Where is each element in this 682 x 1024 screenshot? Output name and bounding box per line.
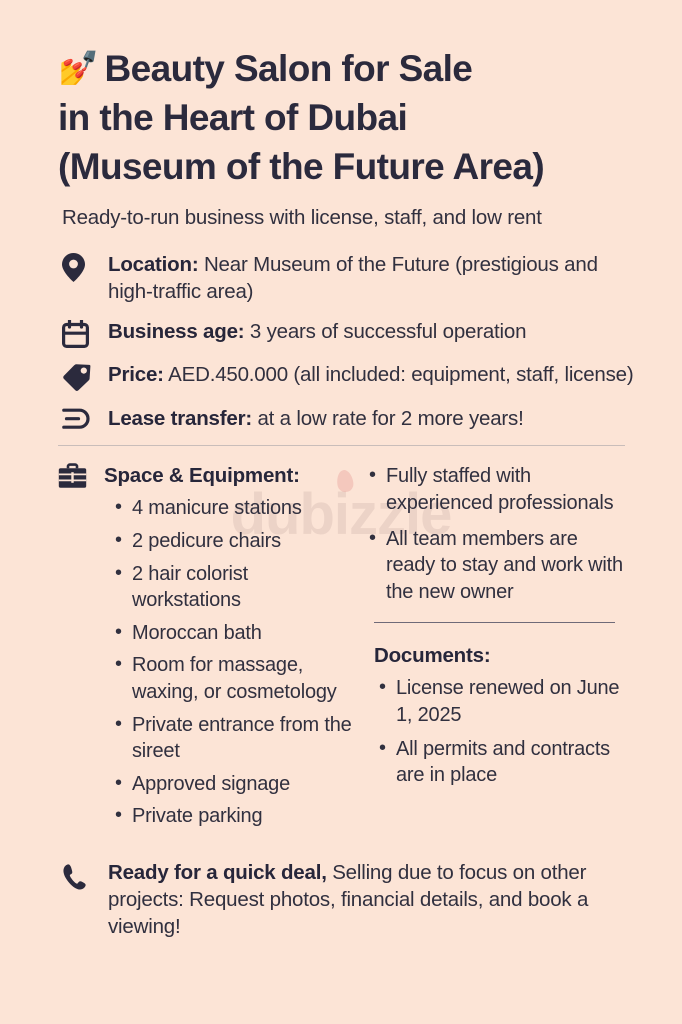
two-column-section: Space & Equipment: 4 manicure stations 2… — [0, 463, 682, 836]
info-row-lease-transfer: Lease transfer: at a low rate for 2 more… — [62, 405, 642, 432]
page-title: 💅Beauty Salon for Salein the Heart of Du… — [58, 44, 642, 192]
list-item: 4 manicure stations — [115, 495, 358, 522]
info-label-location: Location: — [108, 253, 198, 276]
info-row-location: Location: Near Museum of the Future (pre… — [62, 251, 642, 305]
documents-heading: Documents: — [374, 644, 625, 668]
title-line-2: in the Heart of Dubai — [58, 97, 407, 138]
map-pin-icon — [62, 251, 108, 282]
info-label-lease-transfer: Lease transfer: — [108, 407, 252, 430]
list-item: Private parking — [115, 803, 358, 830]
nail-polish-emoji: 💅 — [58, 49, 99, 86]
documents-list: License renewed on June 1, 2025 All perm… — [369, 675, 625, 788]
info-row-price: Price: AED.450.000 (all included: equipm… — [62, 361, 642, 392]
list-item: 2 hair colorist workstations — [115, 561, 358, 614]
info-value-business-age: 3 years of successful operation — [250, 320, 526, 343]
list-item: Moroccan bath — [115, 620, 358, 647]
briefcase-icon — [58, 463, 104, 489]
call-to-action: Ready for a quick deal, Selling due to f… — [0, 859, 682, 941]
title-line-1: Beauty Salon for Sale — [105, 48, 473, 89]
list-item: 2 pedicure chairs — [115, 528, 358, 555]
cta-bold-text: Ready for a quick deal, — [108, 861, 327, 884]
title-line-3: (Museum of the Future Area) — [58, 146, 544, 187]
list-item: License renewed on June 1, 2025 — [379, 675, 625, 728]
info-row-price-text: Price: AED.450.000 (all included: equipm… — [108, 361, 642, 388]
price-tag-icon — [62, 361, 108, 392]
header-block: 💅Beauty Salon for Salein the Heart of Du… — [0, 0, 682, 231]
list-item: All team members are ready to stay and w… — [369, 526, 625, 606]
column-space-equipment: Space & Equipment: 4 manicure stations 2… — [58, 463, 358, 836]
info-value-price: AED.450.000 (all included: equipment, st… — [168, 363, 633, 386]
info-label-price: Price: — [108, 363, 164, 386]
info-row-location-text: Location: Near Museum of the Future (pre… — [108, 251, 642, 305]
list-item: Approved signage — [115, 771, 358, 798]
phone-icon — [62, 859, 108, 891]
space-equipment-header: Space & Equipment: — [58, 463, 358, 489]
info-value-lease-transfer: at a low rate for 2 more years! — [257, 407, 523, 430]
info-row-lease-transfer-text: Lease transfer: at a low rate for 2 more… — [108, 405, 642, 432]
listing-card: dubizzle 💅Beauty Salon for Salein the He… — [0, 0, 682, 1024]
call-to-action-text: Ready for a quick deal, Selling due to f… — [108, 859, 642, 941]
list-item: Room for massage, waxing, or cosmetology — [115, 652, 358, 705]
page-subtitle: Ready-to-run business with license, staf… — [62, 205, 642, 232]
info-label-business-age: Business age: — [108, 320, 244, 343]
info-row-business-age: Business age: 3 years of successful oper… — [62, 318, 642, 348]
list-item: Fully staffed with experienced professio… — [369, 463, 625, 516]
lease-document-icon — [62, 405, 108, 431]
staff-list: Fully staffed with experienced professio… — [369, 463, 625, 605]
calendar-icon — [62, 318, 108, 348]
list-item: All permits and contracts are in place — [379, 736, 625, 789]
documents-divider — [374, 622, 615, 623]
space-equipment-heading: Space & Equipment: — [104, 464, 300, 488]
section-divider — [58, 445, 625, 446]
space-equipment-list: 4 manicure stations 2 pedicure chairs 2 … — [58, 495, 358, 830]
list-item: Private entrance from the sireet — [115, 712, 358, 765]
info-row-business-age-text: Business age: 3 years of successful oper… — [108, 318, 642, 345]
column-staff-documents: Fully staffed with experienced professio… — [358, 463, 625, 795]
info-rows: Location: Near Museum of the Future (pre… — [0, 251, 682, 432]
